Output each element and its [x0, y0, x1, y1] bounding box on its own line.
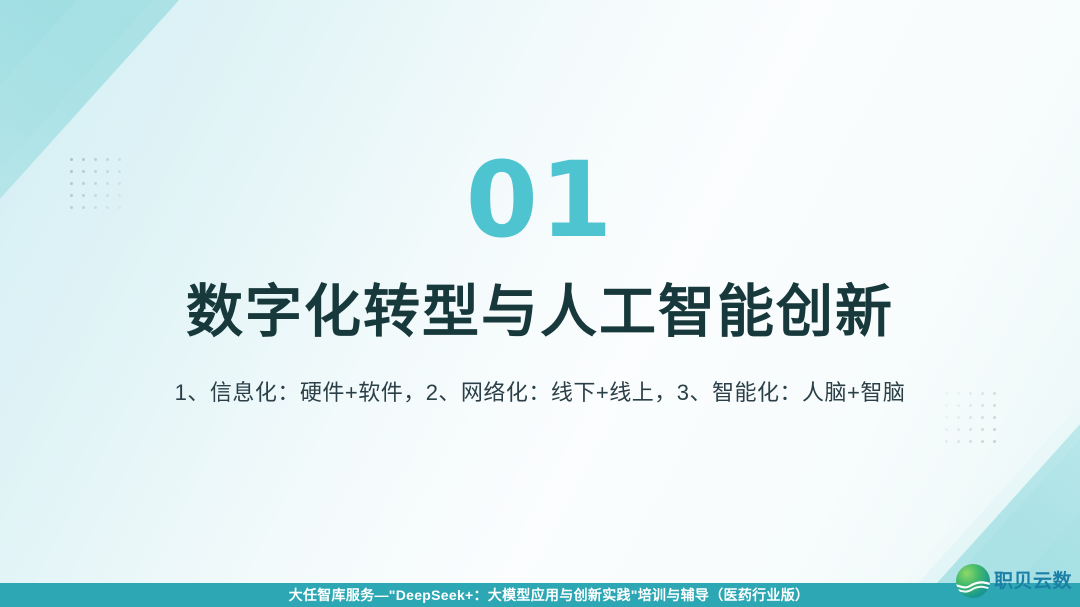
page-title: 数字化转型与人工智能创新 [0, 281, 1080, 345]
decorative-band-bottom-right-3 [411, 217, 1080, 607]
brand-logo: 职贝云数 [956, 564, 1072, 598]
brand-name: 职贝云数 [994, 572, 1072, 591]
section-number: 01 [0, 148, 1080, 252]
footer-bar: 大任智库服务—"DeepSeek+：大模型应用与创新实践"培训与辅导（医药行业版… [0, 583, 1080, 607]
wave-globe-icon [956, 564, 990, 598]
presentation-slide: 01 数字化转型与人工智能创新 1、信息化：硬件+软件，2、网络化：线下+线上，… [0, 0, 1080, 607]
section-subtitle: 1、信息化：硬件+软件，2、网络化：线下+线上，3、智能化：人脑+智脑 [0, 379, 1080, 408]
footer-text: 大任智库服务—"DeepSeek+：大模型应用与创新实践"培训与辅导（医药行业版… [271, 585, 810, 605]
